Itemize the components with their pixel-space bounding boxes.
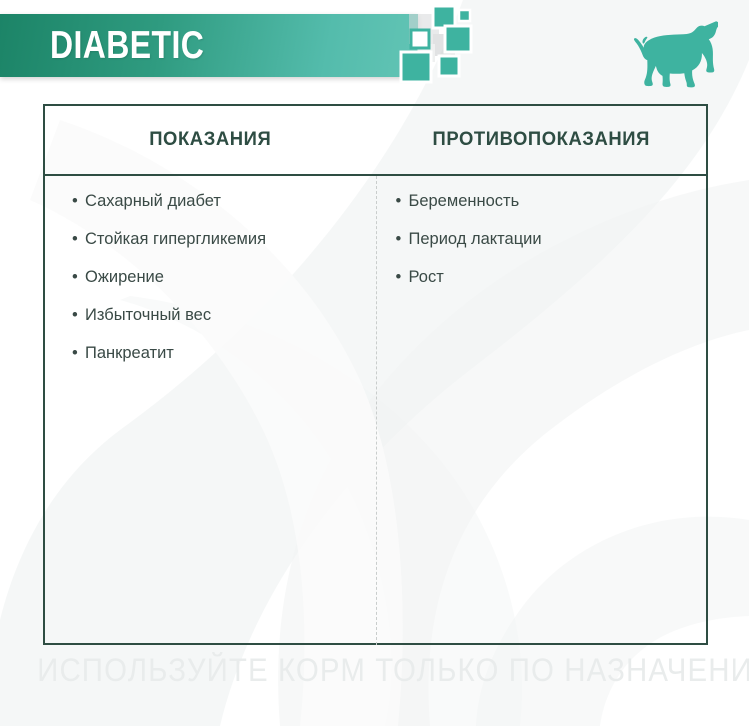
contraindications-list: • Беременность • Период лактации • Рост <box>376 192 707 306</box>
list-item: • Период лактации <box>376 230 707 268</box>
bullet-icon: • <box>72 307 85 324</box>
dog-silhouette-icon <box>626 20 718 88</box>
page-header: DIABETIC <box>0 0 749 100</box>
list-item-label: Избыточный вес <box>85 306 211 325</box>
list-item-label: Беременность <box>409 192 520 211</box>
list-item-label: Панкреатит <box>85 344 174 363</box>
list-item-label: Сахарный диабет <box>85 192 221 211</box>
column-indications: • Сахарный диабет • Стойкая гипергликеми… <box>45 176 376 645</box>
bullet-icon: • <box>72 193 85 210</box>
list-item: • Ожирение <box>45 268 376 306</box>
list-item-label: Ожирение <box>85 268 164 287</box>
bullet-icon: • <box>72 345 85 362</box>
list-item: • Панкреатит <box>45 344 376 382</box>
bullet-icon: • <box>396 231 409 248</box>
list-item: • Рост <box>376 268 707 306</box>
list-item-label: Рост <box>409 268 444 287</box>
list-item: • Сахарный диабет <box>45 192 376 230</box>
bullet-icon: • <box>72 269 85 286</box>
column-header-indications: ПОКАЗАНИЯ <box>50 106 371 174</box>
list-item: • Стойкая гипергликемия <box>45 230 376 268</box>
column-divider <box>376 176 377 645</box>
footer: ИСПОЛЬЗУЙТЕ КОРМ ТОЛЬКО ПО НАЗНАЧЕНИЮ ВР… <box>0 652 749 689</box>
bullet-icon: • <box>396 269 409 286</box>
column-header-contraindications: ПРОТИВОПОКАЗАНИЯ <box>380 106 701 174</box>
bullet-icon: • <box>396 193 409 210</box>
bullet-icon: • <box>72 231 85 248</box>
list-item: • Избыточный вес <box>45 306 376 344</box>
footer-disclaimer: ИСПОЛЬЗУЙТЕ КОРМ ТОЛЬКО ПО НАЗНАЧЕНИЮ ВР… <box>37 652 749 689</box>
list-item: • Беременность <box>376 192 707 230</box>
table-header-row: ПОКАЗАНИЯ ПРОТИВОПОКАЗАНИЯ <box>45 106 706 176</box>
indications-list: • Сахарный диабет • Стойкая гипергликеми… <box>45 192 376 382</box>
list-item-label: Период лактации <box>409 230 542 249</box>
squares-decoration-icon <box>395 0 505 95</box>
title-banner: DIABETIC <box>0 14 418 77</box>
table-body: • Сахарный диабет • Стойкая гипергликеми… <box>45 176 706 645</box>
list-item-label: Стойкая гипергликемия <box>85 230 266 249</box>
indications-table: ПОКАЗАНИЯ ПРОТИВОПОКАЗАНИЯ • Сахарный ди… <box>43 104 708 645</box>
page-title: DIABETIC <box>50 26 204 65</box>
column-contraindications: • Беременность • Период лактации • Рост <box>376 176 707 645</box>
